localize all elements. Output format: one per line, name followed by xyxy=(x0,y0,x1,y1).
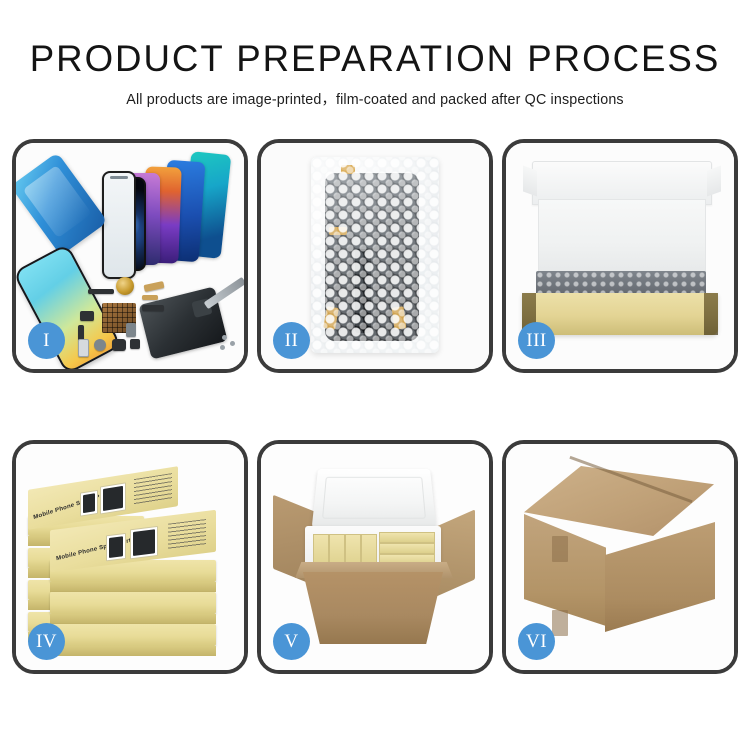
step-badge-1: I xyxy=(28,322,65,359)
part-camera-icon xyxy=(112,339,126,351)
screw-icon xyxy=(230,341,235,346)
packed-box xyxy=(379,532,435,543)
box-window xyxy=(130,526,158,559)
page-title: PRODUCT PREPARATION PROCESS xyxy=(4,0,747,79)
part-sim-tray-icon xyxy=(78,339,89,357)
part-strip-icon xyxy=(88,289,114,294)
part-button-icon xyxy=(126,323,136,337)
bubble-bag-icon xyxy=(311,157,439,353)
part-bracket-icon xyxy=(80,311,94,321)
foam-lid-icon xyxy=(312,469,437,528)
process-step-2[interactable]: II xyxy=(257,139,493,373)
process-step-6[interactable]: VI xyxy=(502,440,738,674)
stacked-box xyxy=(50,624,216,646)
screw-icon xyxy=(220,345,225,350)
packed-box xyxy=(379,543,435,554)
stacked-box xyxy=(50,592,216,614)
screw-icon xyxy=(222,335,227,340)
step-badge-2: II xyxy=(273,322,310,359)
step-badge-3: III xyxy=(518,322,555,359)
box-spec-lines xyxy=(168,519,206,550)
copper-coil-icon xyxy=(116,277,134,295)
bubble-texture-highlight xyxy=(311,157,439,353)
box-back-panel-icon xyxy=(538,199,706,277)
part-chip-icon xyxy=(130,339,140,349)
step-badge-5: V xyxy=(273,623,310,660)
process-grid: I II xyxy=(12,139,738,674)
header: PRODUCT PREPARATION PROCESS All products… xyxy=(0,0,750,109)
part-ribbon-icon xyxy=(142,305,164,311)
tempered-glass-film-icon xyxy=(102,171,136,279)
box-window xyxy=(80,490,98,517)
carton-front-panel xyxy=(303,572,443,644)
step-badge-6: VI xyxy=(518,623,555,660)
part-flex-icon xyxy=(142,295,158,300)
part-speaker-icon xyxy=(94,339,106,351)
box-window xyxy=(106,533,126,561)
page-subtitle: All products are image-printed，film-coat… xyxy=(0,79,750,109)
carton-tape-icon xyxy=(552,536,568,562)
box-window xyxy=(100,482,126,514)
process-step-3[interactable]: III xyxy=(502,139,738,373)
box-spec-lines xyxy=(134,473,172,505)
process-step-4[interactable]: Mobile Phone Spare Parts Mobile Phone Sp… xyxy=(12,440,248,674)
product-preparation-infographic: PRODUCT PREPARATION PROCESS All products… xyxy=(0,0,750,750)
process-step-5[interactable]: V xyxy=(257,440,493,674)
step-badge-4: IV xyxy=(28,623,65,660)
process-step-1[interactable]: I xyxy=(12,139,248,373)
carton-tape-icon xyxy=(552,610,568,636)
